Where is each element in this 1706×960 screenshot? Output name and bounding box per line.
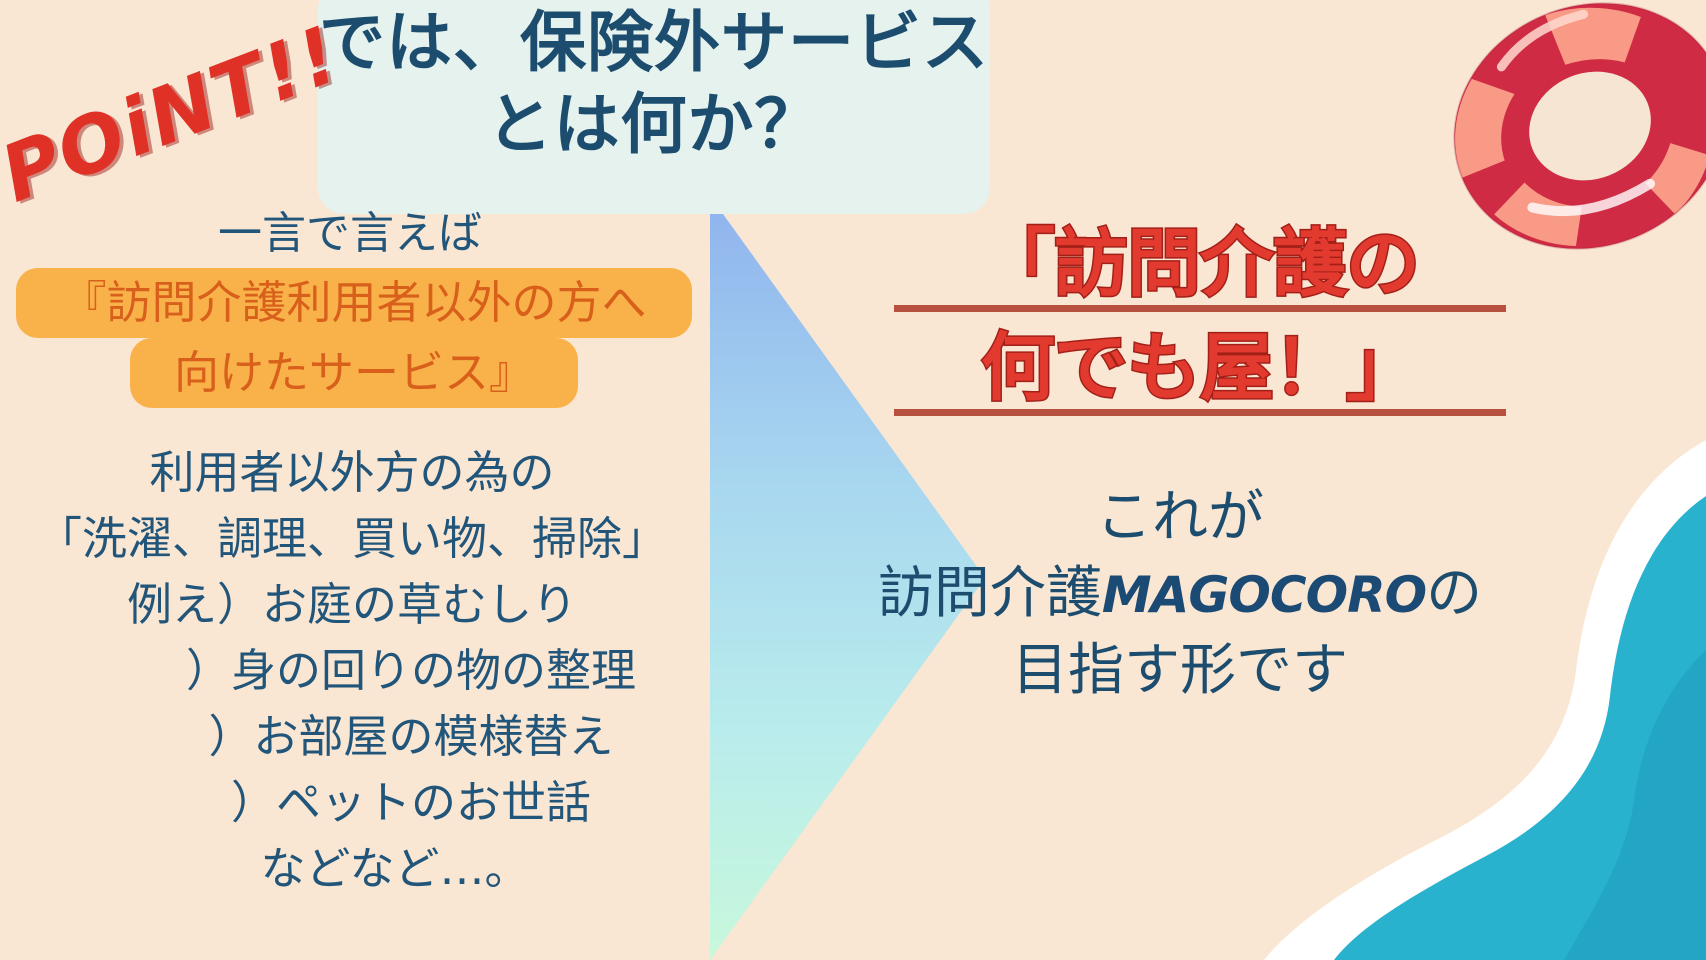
page-title-line-2: とは何か？ xyxy=(318,84,990,166)
right-body-line-2: 訪問介護MAGOCOROの xyxy=(840,556,1520,633)
list-item: 「洗濯、調理、買い物、掃除」 xyxy=(0,506,704,572)
brand-prefix: 訪問介護 xyxy=(878,561,1102,626)
list-item: ）身の回りの物の整理 xyxy=(0,638,704,704)
point-stamp: POiNT!! xyxy=(0,10,352,221)
red-headline-line-2: 何でも屋！」 xyxy=(880,316,1520,420)
brand-name: MAGOCORO xyxy=(1102,566,1426,624)
highlight-box: 『訪問介護利用者以外の方へ 向けたサービス』 xyxy=(0,268,708,408)
page-title: では、保険外サービス とは何か？ xyxy=(318,2,990,166)
list-item: ）お部屋の模様替え xyxy=(0,704,704,770)
list-item: ）ペットのお世話 xyxy=(0,770,704,836)
red-headline-line-1: 「訪問介護の xyxy=(880,212,1520,316)
page-title-line-1: では、保険外サービス xyxy=(318,2,990,84)
highlight-line-2: 向けたサービス』 xyxy=(130,338,578,408)
list-item: 利用者以外方の為の xyxy=(0,440,704,506)
highlight-line-1: 『訪問介護利用者以外の方へ xyxy=(16,268,692,338)
right-body-text: これが 訪問介護MAGOCOROの 目指す形です xyxy=(840,480,1520,709)
right-body-line-1: これが xyxy=(840,480,1520,556)
poster-canvas: では、保険外サービス とは何か？ POiNT!! 一言で言えば 『訪問介護利用者… xyxy=(0,0,1706,960)
lead-text: 一言で言えば xyxy=(0,206,700,262)
right-body-line-3: 目指す形です xyxy=(840,633,1520,709)
service-example-list: 利用者以外方の為の 「洗濯、調理、買い物、掃除」 例え）お庭の草むしり ）身の回… xyxy=(0,440,704,902)
brand-suffix: の xyxy=(1426,561,1482,626)
red-headline: 「訪問介護の 何でも屋！」 xyxy=(880,212,1520,420)
list-item: などなど…。 xyxy=(0,836,704,902)
list-item: 例え）お庭の草むしり xyxy=(0,572,704,638)
